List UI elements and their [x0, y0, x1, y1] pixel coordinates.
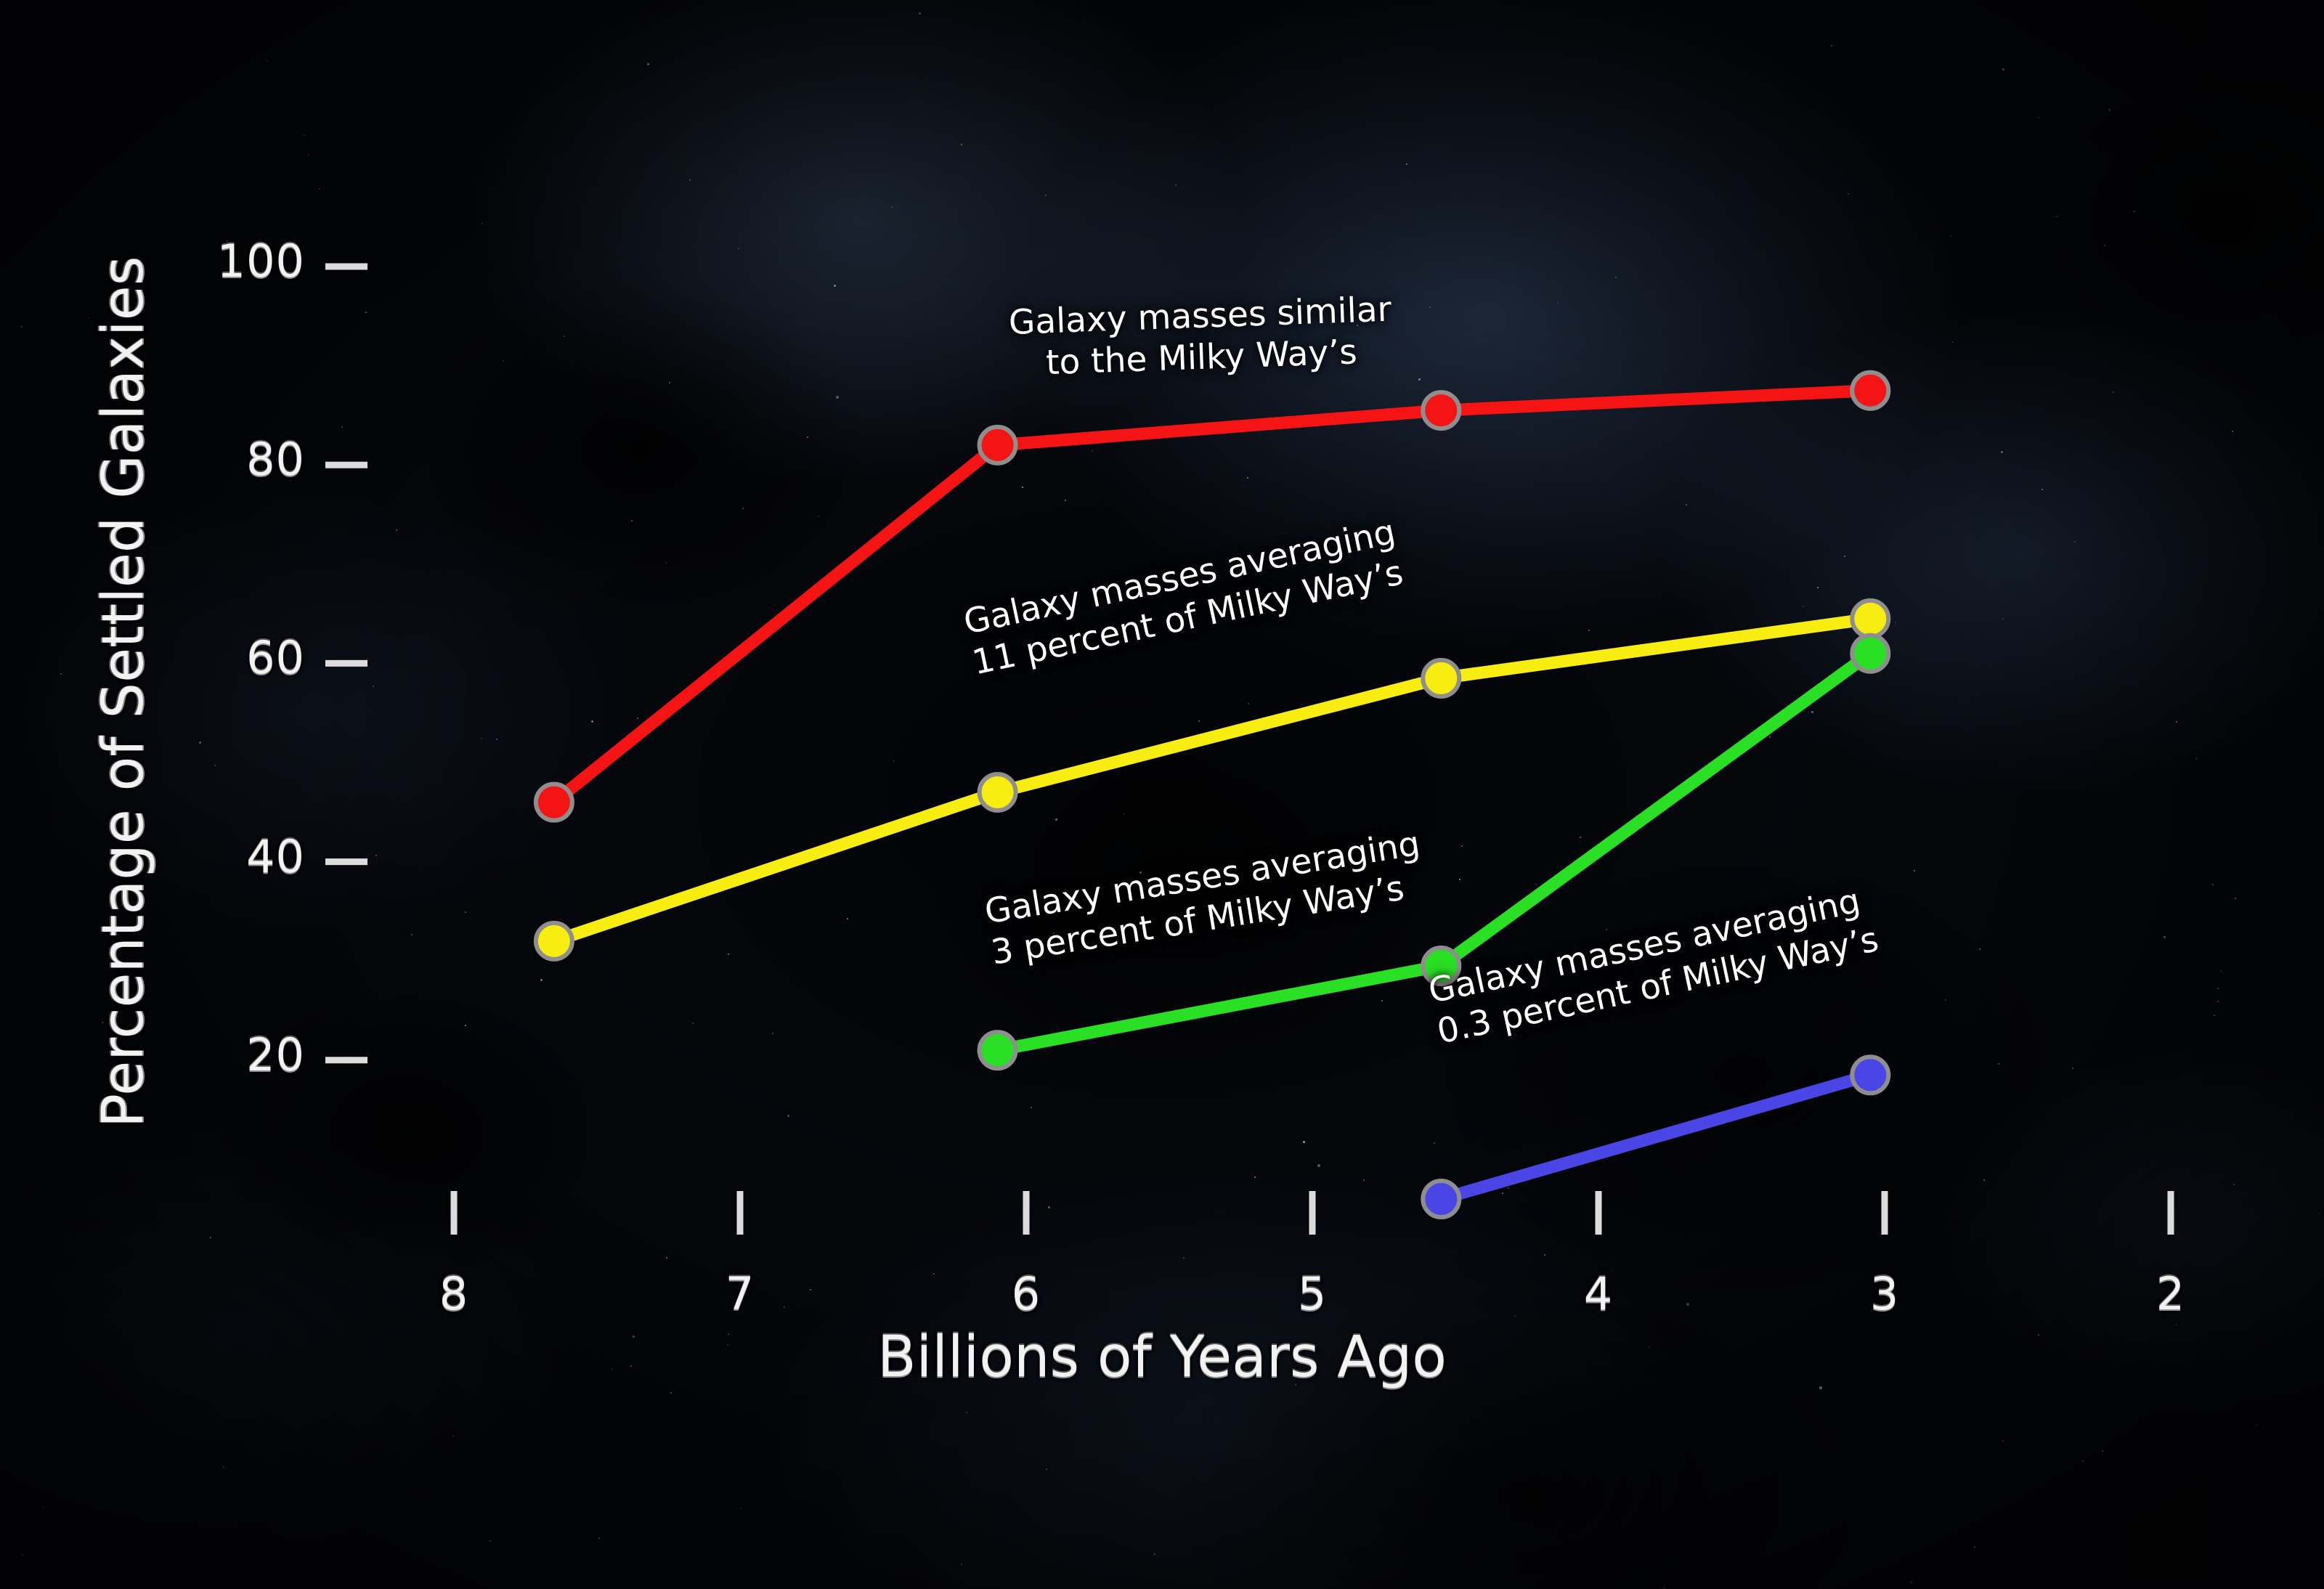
x-tick-label: 5 — [1269, 1267, 1356, 1320]
data-point — [1852, 601, 1888, 637]
data-point — [1852, 1057, 1888, 1093]
x-tick-label: 3 — [1841, 1267, 1928, 1320]
series-line — [1441, 1075, 1870, 1199]
x-tick-label: 2 — [2127, 1267, 2214, 1320]
x-tick-label: 4 — [1555, 1267, 1642, 1320]
y-tick-label: 80 — [246, 433, 305, 486]
x-ticks — [454, 1191, 2171, 1235]
chart-canvas: 20406080100 8765432 Percentage of Settle… — [0, 0, 2324, 1589]
annotation-red: Galaxy masses similarto the Milky Way’s — [1008, 289, 1394, 386]
axes — [321, 258, 2219, 1235]
data-point — [1423, 660, 1459, 696]
data-point — [980, 427, 1016, 463]
x-tick-label: 6 — [983, 1267, 1070, 1320]
y-tick-label: 100 — [217, 235, 305, 288]
data-point — [1423, 392, 1459, 428]
y-ticks — [325, 267, 367, 1060]
y-tick-label: 20 — [246, 1028, 305, 1081]
x-tick-label: 8 — [410, 1267, 497, 1320]
series-3 — [1423, 1057, 1888, 1217]
y-tick-label: 60 — [246, 631, 305, 684]
data-point — [980, 774, 1016, 810]
data-point — [1852, 373, 1888, 409]
x-tick-label: 7 — [696, 1267, 784, 1320]
data-point — [1423, 1181, 1459, 1217]
data-point — [536, 923, 572, 959]
y-axis-title: Percentage of Settled Galaxies — [91, 256, 156, 1128]
data-point — [1852, 635, 1888, 672]
x-axis-title: Billions of Years Ago — [0, 1325, 2324, 1390]
data-point — [980, 1032, 1016, 1068]
data-point — [536, 784, 572, 821]
y-tick-label: 40 — [246, 830, 305, 883]
